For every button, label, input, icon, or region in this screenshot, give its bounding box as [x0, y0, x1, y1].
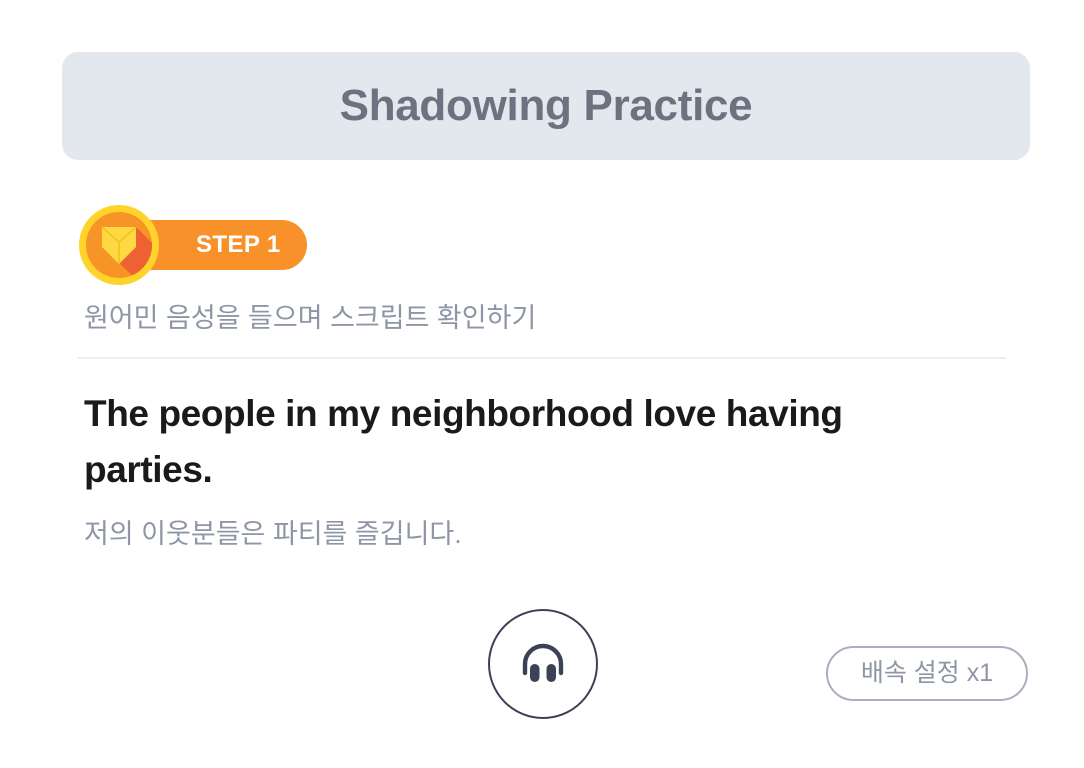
shield-medallion-icon [78, 204, 160, 286]
script-sentence-english: The people in my neighborhood love havin… [84, 386, 974, 498]
page-title: Shadowing Practice [340, 84, 753, 128]
playback-speed-button[interactable]: 배속 설정 x1 [826, 646, 1028, 701]
step-subtitle: 원어민 음성을 들으며 스크립트 확인하기 [84, 300, 536, 338]
section-divider [78, 357, 1006, 359]
script-sentence-korean: 저의 이웃분들은 파티를 즐깁니다. [84, 516, 974, 554]
headphones-icon [520, 642, 566, 687]
step-badge-label: STEP 1 [196, 233, 281, 257]
page-header-banner: Shadowing Practice [62, 52, 1030, 160]
playback-speed-label: 배속 설정 x1 [861, 661, 993, 686]
listen-audio-button[interactable] [488, 609, 598, 719]
